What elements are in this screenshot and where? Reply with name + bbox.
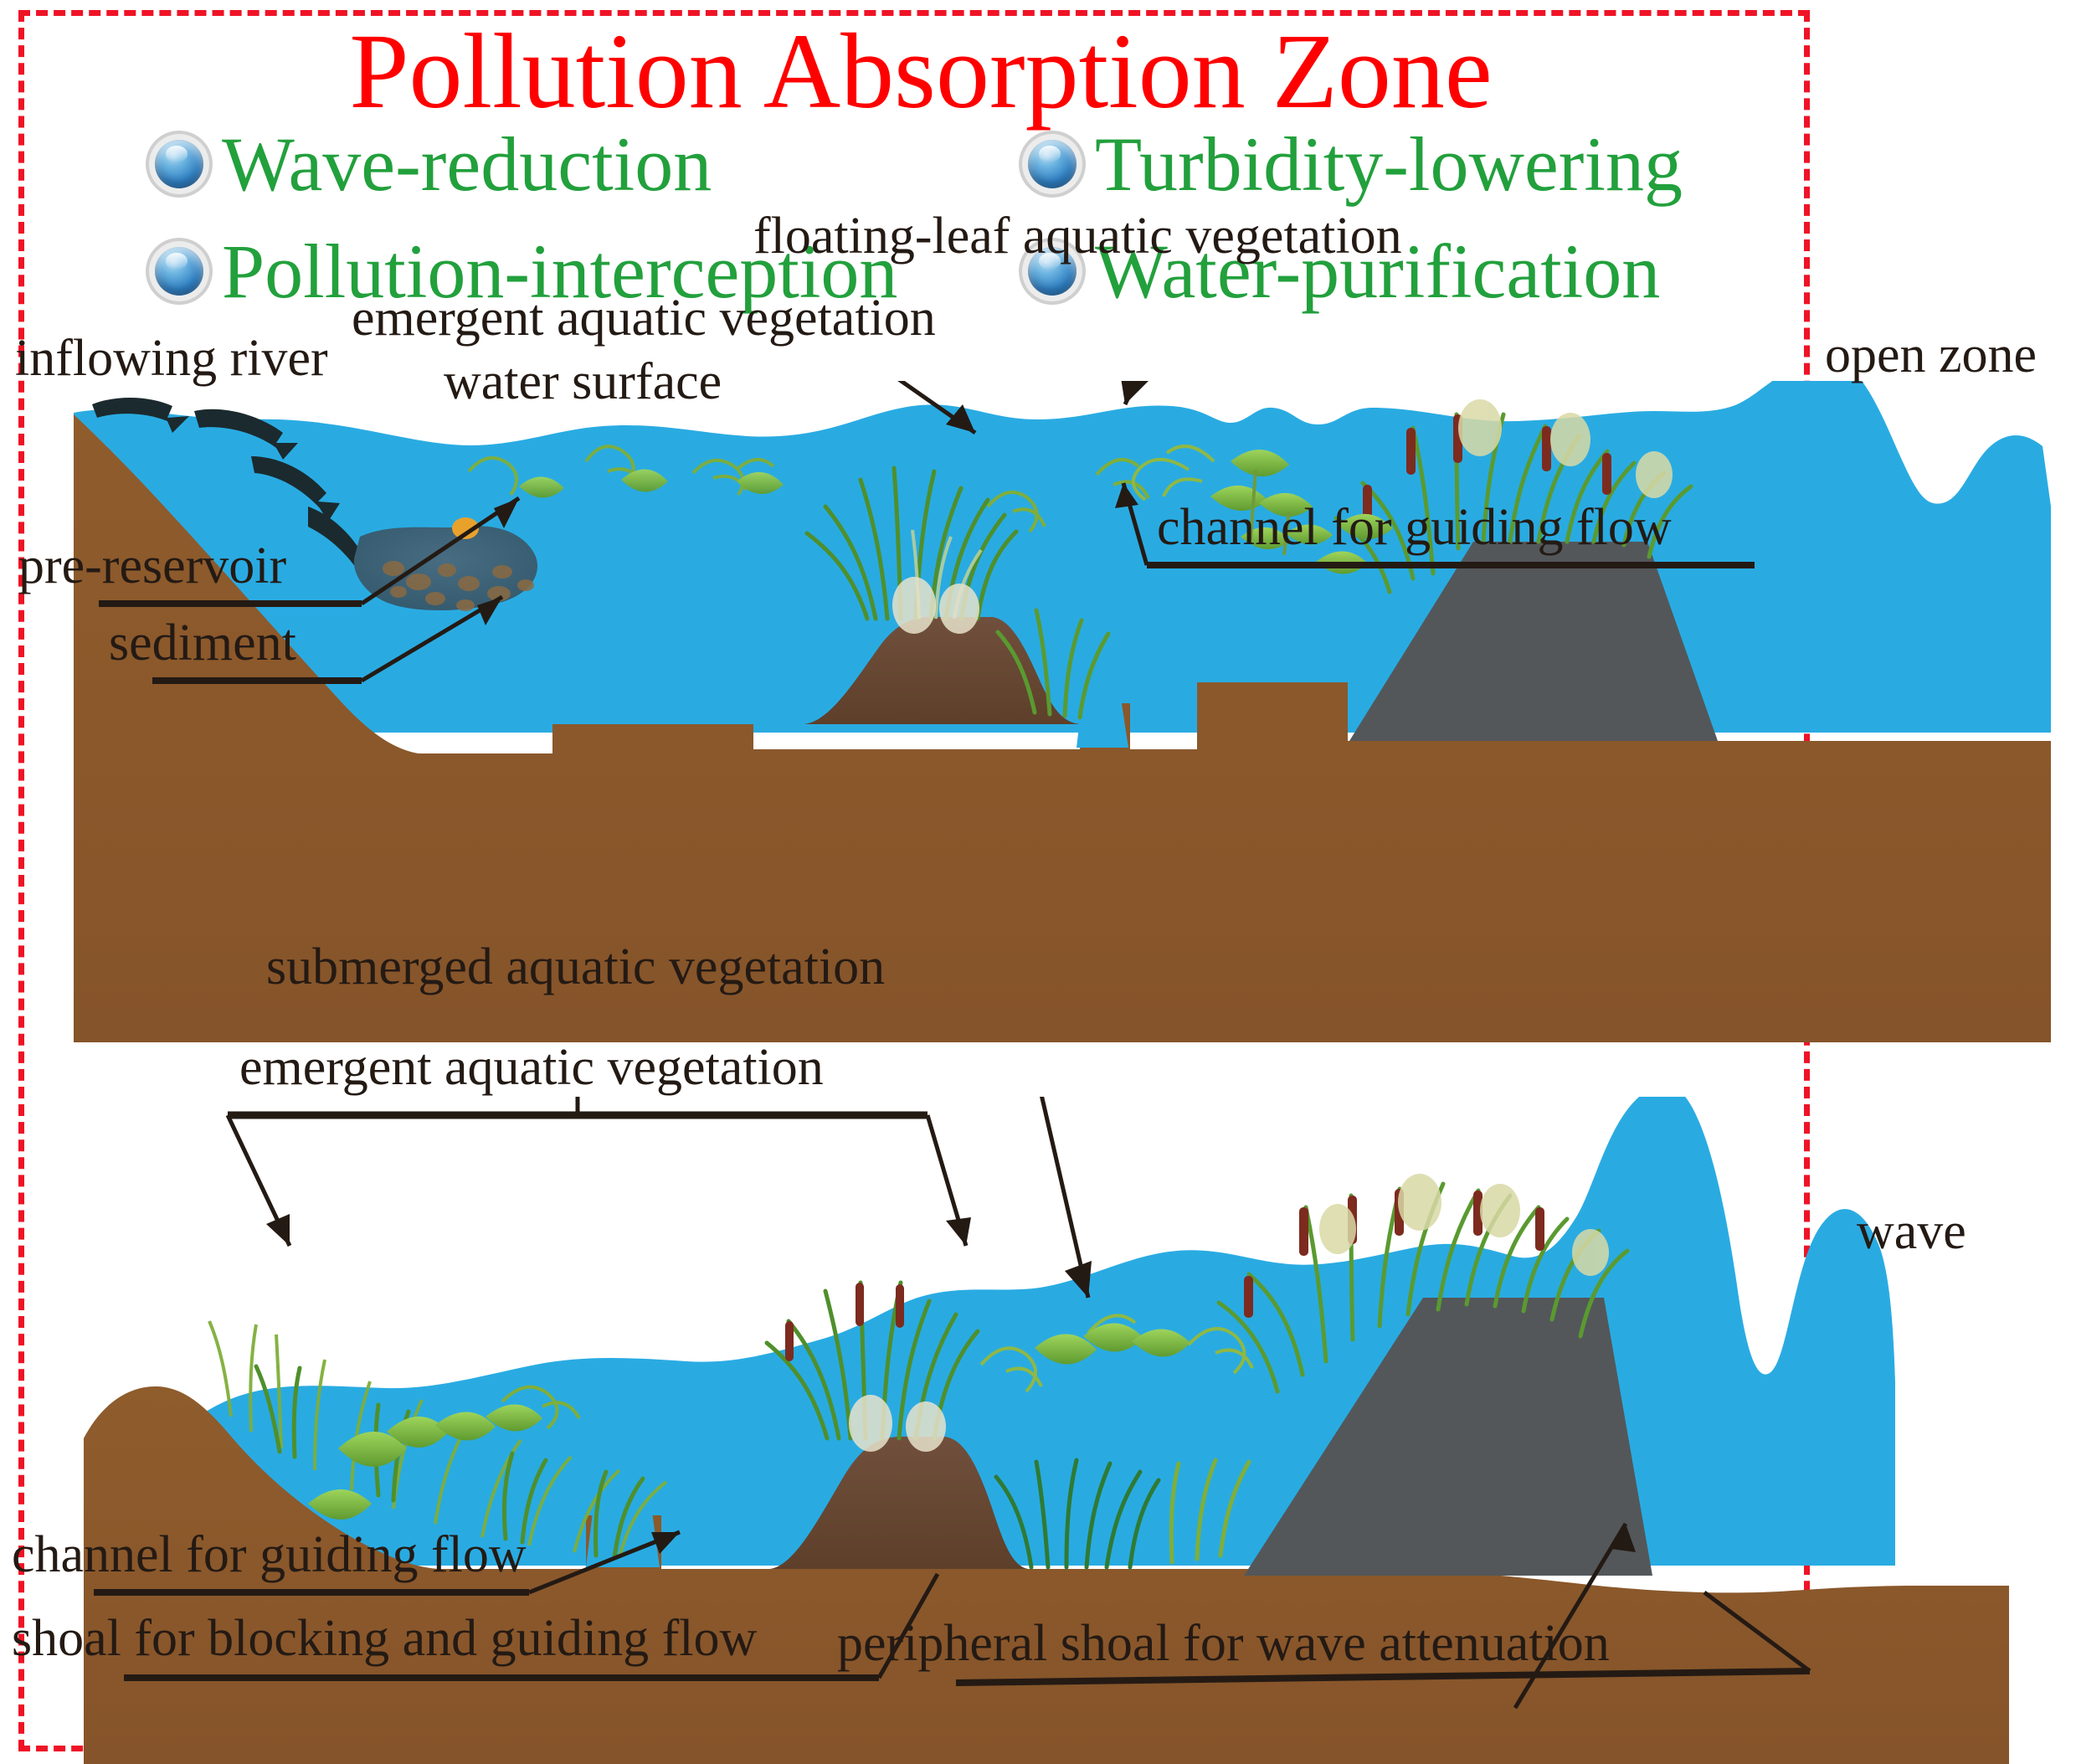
label-channel-for-guiding-flow-upper: channel for guiding flow	[1157, 501, 1672, 553]
benefit-label: Turbidity-lowering	[1095, 126, 1683, 203]
benefit-wave-reduction: Wave-reduction	[155, 126, 712, 203]
label-peripheral-shoal-for-wave-attenuation: peripheral shoal for wave attenuation	[837, 1617, 1610, 1669]
blue-orb-bullet-icon	[1028, 140, 1077, 188]
label-sediment: sediment	[109, 617, 296, 669]
blue-orb-bullet-icon	[155, 247, 203, 296]
label-inflowing-river: inflowing river	[15, 332, 328, 384]
page-title: Pollution Absorption Zone	[0, 12, 1842, 131]
label-pre-reservoir: pre-reservoir	[18, 540, 286, 592]
label-wave: wave	[1857, 1206, 1966, 1257]
diagram-canvas: Pollution Absorption Zone Wave-reduction…	[0, 0, 2076, 1764]
benefit-turbidity-lowering: Turbidity-lowering	[1028, 126, 1683, 203]
benefit-label: Wave-reduction	[222, 126, 712, 203]
label-channel-for-guiding-flow-lower: channel for guiding flow	[12, 1529, 527, 1581]
label-open-zone: open zone	[1825, 329, 2037, 381]
label-emergent-aquatic-vegetation-upper: emergent aquatic vegetation	[352, 292, 936, 344]
label-shoal-for-blocking-and-guiding-flow: shoal for blocking and guiding flow	[12, 1612, 757, 1664]
label-submerged-aquatic-vegetation: submerged aquatic vegetation	[266, 941, 885, 993]
label-emergent-aquatic-vegetation-lower: emergent aquatic vegetation	[239, 1041, 824, 1093]
label-water-surface: water surface	[444, 356, 722, 408]
blue-orb-bullet-icon	[155, 140, 203, 188]
header: Pollution Absorption Zone Wave-reduction…	[0, 0, 1842, 327]
lower-cross-section: submerged aquatic vegetation emergent aq…	[0, 1097, 2076, 1764]
label-floating-leaf-aquatic-vegetation: floating-leaf aquatic vegetation	[753, 210, 1402, 262]
